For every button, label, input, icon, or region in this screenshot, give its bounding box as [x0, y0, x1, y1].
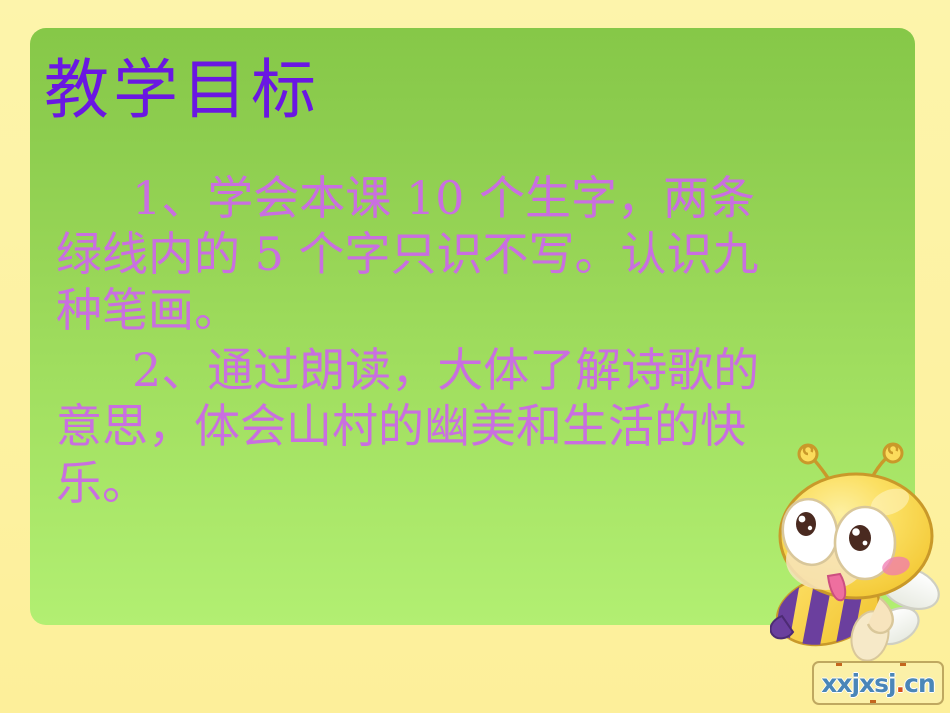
- site-watermark: xxjxsj.cn: [812, 661, 944, 705]
- watermark-corner-square: [870, 700, 876, 705]
- objective-paragraph-2: 2、通过朗读，大体了解诗歌的意思，体会山村的幽美和生活的快乐。: [56, 342, 796, 510]
- body-text-block: 1、学会本课 10 个生字，两条绿线内的 5 个字只识不写。认识九种笔画。 2、…: [56, 170, 796, 511]
- watermark-text: xxjxsj.cn: [821, 669, 935, 698]
- watermark-corner-square: [900, 661, 906, 666]
- watermark-corner-square: [836, 661, 842, 666]
- watermark-text-tld: cn: [904, 669, 935, 698]
- slide-canvas: 教学目标 1、学会本课 10 个生字，两条绿线内的 5 个字只识不写。认识九种笔…: [0, 0, 950, 713]
- watermark-text-dot: .: [896, 669, 905, 698]
- bee-mascot-icon: [770, 440, 950, 670]
- bee-mascot-svg: [770, 440, 950, 670]
- objective-paragraph-1: 1、学会本课 10 个生字，两条绿线内的 5 个字只识不写。认识九种笔画。: [56, 170, 796, 338]
- bee-antennae-tips-icon: [799, 444, 902, 463]
- page-title: 教学目标: [44, 52, 320, 130]
- watermark-text-main: xxjxsj: [821, 669, 895, 698]
